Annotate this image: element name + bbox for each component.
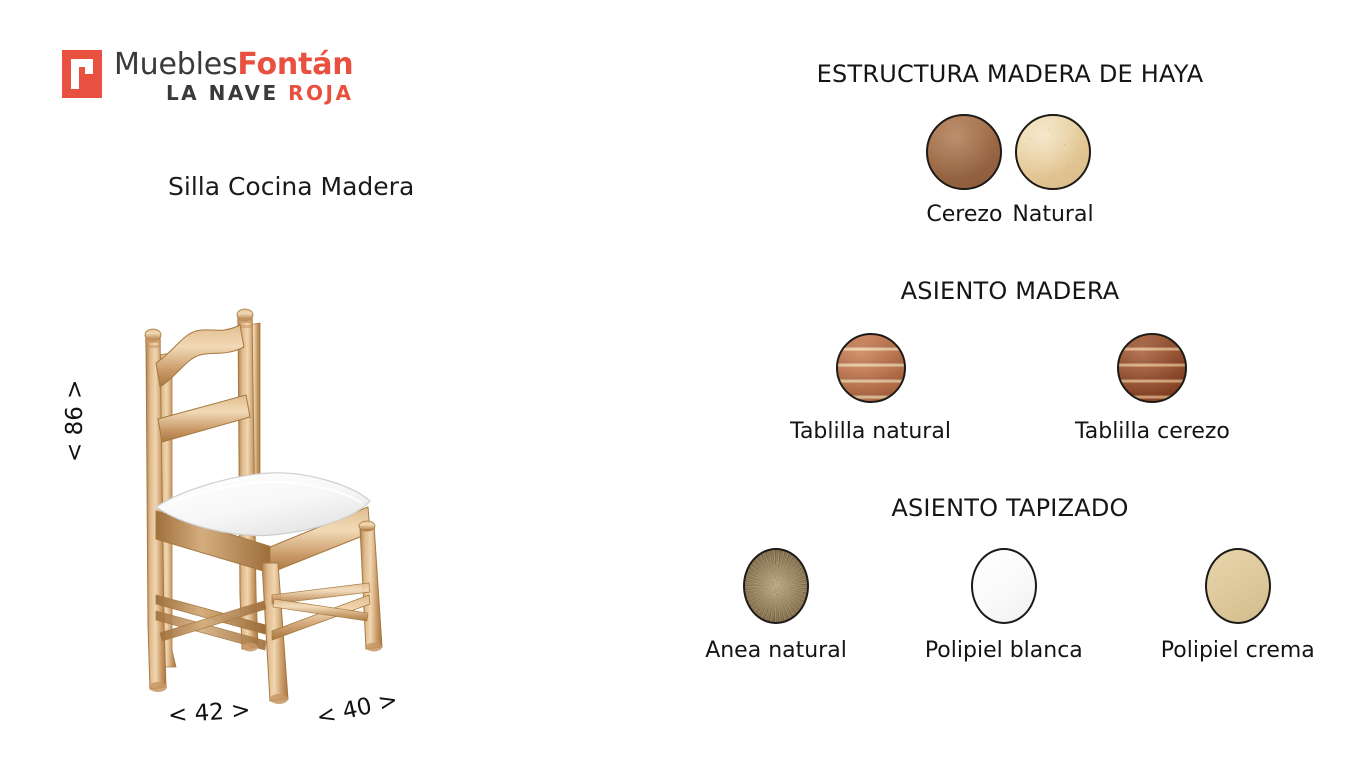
- logo-glyph-descender: [85, 59, 93, 74]
- swatch-option-polipiel-blanca[interactable]: Polipiel blanca: [925, 548, 1083, 663]
- swatch-label-polipiel-blanca: Polipiel blanca: [925, 638, 1083, 663]
- product-title: Silla Cocina Madera: [168, 172, 414, 201]
- swatch-option-tablilla-cerezo[interactable]: Tablilla cerezo: [1075, 333, 1230, 444]
- brand-tagline-roja: ROJA: [288, 81, 353, 105]
- swatch-color-polipiel-blanca[interactable]: [971, 548, 1037, 624]
- swatch-color-tablilla-natural[interactable]: [836, 333, 906, 403]
- finish-section-asiento-madera: ASIENTO MADERA Tablilla natural Tablilla…: [680, 277, 1340, 444]
- section-title-asiento-tapizado: ASIENTO TAPIZADO: [680, 494, 1340, 522]
- finish-section-asiento-tapizado: ASIENTO TAPIZADO Anea natural Polipiel b…: [680, 494, 1340, 663]
- brand-tagline: LA NAVE ROJA: [114, 83, 353, 103]
- product-image-chair: [120, 295, 430, 715]
- swatch-label-natural: Natural: [1012, 202, 1093, 227]
- swatch-label-cerezo: Cerezo: [926, 202, 1002, 227]
- brand-logo-mark-icon: [62, 50, 102, 98]
- swatch-label-polipiel-crema: Polipiel crema: [1161, 638, 1315, 663]
- brand-logo: MueblesFontán LA NAVE ROJA: [62, 50, 353, 103]
- swatch-label-anea-natural: Anea natural: [705, 638, 847, 663]
- swatch-color-polipiel-crema[interactable]: [1205, 548, 1271, 624]
- swatch-option-polipiel-crema[interactable]: Polipiel crema: [1161, 548, 1315, 663]
- brand-name: MueblesFontán: [114, 50, 353, 80]
- swatch-option-cerezo[interactable]: Cerezo: [926, 114, 1002, 227]
- finish-options-panel: ESTRUCTURA MADERA DE HAYA Cerezo Natural…: [680, 60, 1340, 667]
- brand-logo-text: MueblesFontán LA NAVE ROJA: [114, 50, 353, 103]
- brand-tagline-nave: LA NAVE: [166, 81, 279, 105]
- swatch-option-natural[interactable]: Natural: [1012, 114, 1093, 227]
- brand-name-fontan: Fontán: [237, 47, 353, 82]
- swatch-label-tablilla-cerezo: Tablilla cerezo: [1075, 419, 1230, 444]
- dimension-width-label: < 42 >: [167, 697, 251, 729]
- swatch-row-asiento-tapizado: Anea natural Polipiel blanca Polipiel cr…: [680, 548, 1340, 663]
- swatch-color-tablilla-cerezo[interactable]: [1117, 333, 1187, 403]
- swatch-option-tablilla-natural[interactable]: Tablilla natural: [790, 333, 951, 444]
- section-title-estructura: ESTRUCTURA MADERA DE HAYA: [680, 60, 1340, 88]
- finish-section-estructura: ESTRUCTURA MADERA DE HAYA Cerezo Natural: [680, 60, 1340, 227]
- section-title-asiento-madera: ASIENTO MADERA: [680, 277, 1340, 305]
- dimension-height-label: < 86 >: [62, 380, 88, 462]
- swatch-row-estructura: Cerezo Natural: [680, 114, 1340, 227]
- swatch-option-anea-natural[interactable]: Anea natural: [705, 548, 847, 663]
- swatch-row-asiento-madera: Tablilla natural Tablilla cerezo: [680, 333, 1340, 444]
- swatch-color-natural[interactable]: [1015, 114, 1091, 190]
- brand-name-muebles: Muebles: [114, 47, 237, 82]
- swatch-color-cerezo[interactable]: [926, 114, 1002, 190]
- swatch-color-anea-natural[interactable]: [743, 548, 809, 624]
- swatch-label-tablilla-natural: Tablilla natural: [790, 419, 951, 444]
